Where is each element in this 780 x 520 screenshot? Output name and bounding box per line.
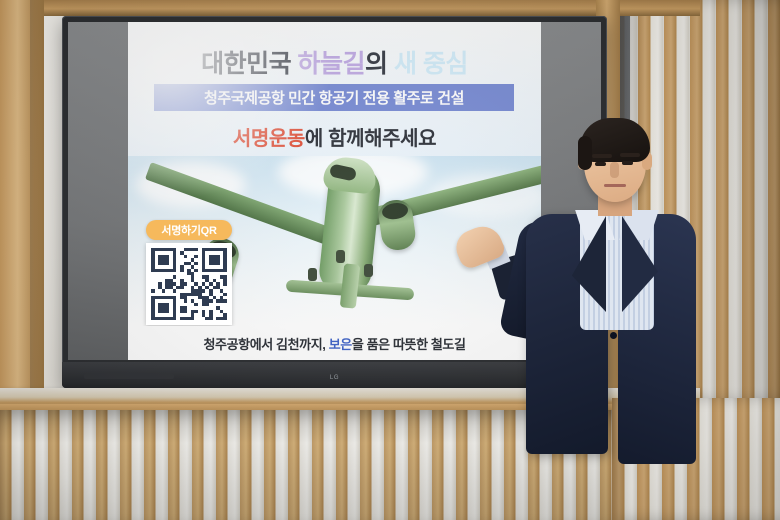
wood-trim-top	[0, 0, 700, 16]
qr-badge-label: 서명하기QR	[161, 222, 216, 238]
presenter-eye-right	[622, 161, 633, 165]
slide-subtitle-text: 청주국제공항 민간 항공기 전용 활주로 건설	[204, 87, 464, 108]
letterbox-left	[68, 22, 128, 360]
display-brand-logo: LG	[330, 375, 339, 381]
presenter-jacket-button	[610, 332, 617, 339]
headline-part-2: 하늘길	[298, 50, 366, 78]
slide-subtitle-bar: 청주국제공항 민간 항공기 전용 활주로 건설	[154, 84, 514, 111]
display-speaker-vent	[84, 373, 174, 379]
presenter-brow-right	[620, 153, 640, 157]
qr-code-modules	[151, 248, 227, 320]
cta-rest: 에 함께해주세요	[305, 128, 436, 150]
presenter-brow-left	[592, 154, 612, 158]
qr-badge-pill[interactable]: 서명하기QR	[146, 220, 232, 240]
headline-part-4: 새 중심	[394, 50, 468, 78]
landing-gear-left	[308, 268, 317, 281]
landing-gear-right	[364, 264, 373, 277]
landing-gear-nose	[336, 250, 345, 263]
qr-code[interactable]	[146, 243, 232, 325]
slide-call-to-action: 서명운동에 함께해주세요	[128, 122, 541, 151]
slide-content: 대한민국 하늘길의 새 중심 청주국제공항 민간 항공기 전용 활주로 건설 서…	[128, 22, 541, 360]
presenter-person	[506, 118, 696, 520]
caption-part-2: 보은	[329, 337, 352, 352]
caption-part-1: 청주공항에서 김천까지,	[203, 337, 328, 352]
cta-highlight: 서명운동	[233, 128, 305, 150]
slide-caption-text: 청주공항에서 김천까지, 보은을 품은 따뜻한 철도길	[203, 334, 465, 353]
presenter-nose	[610, 162, 619, 178]
slide-caption-bar: 청주공항에서 김천까지, 보은을 품은 따뜻한 철도길	[128, 326, 541, 360]
photo-scene: 대한민국 하늘길의 새 중심 청주국제공항 민간 항공기 전용 활주로 건설 서…	[0, 0, 780, 520]
slide-headline: 대한민국 하늘길의 새 중심	[128, 44, 541, 80]
airplane-tail-fin	[340, 263, 361, 308]
qr-badge-block[interactable]: 서명하기QR	[146, 220, 244, 325]
headline-part-1: 대한민국	[201, 50, 297, 78]
presenter-eye-left	[595, 162, 606, 166]
airplane-graphic	[224, 164, 484, 314]
caption-part-3: 을 품은 따뜻한 철도길	[352, 337, 466, 352]
slide-photo-airplane: 서명하기QR	[128, 156, 541, 326]
headline-part-3: 의	[365, 50, 394, 78]
wood-trim-left	[0, 0, 44, 420]
presenter-mouth	[604, 184, 626, 187]
